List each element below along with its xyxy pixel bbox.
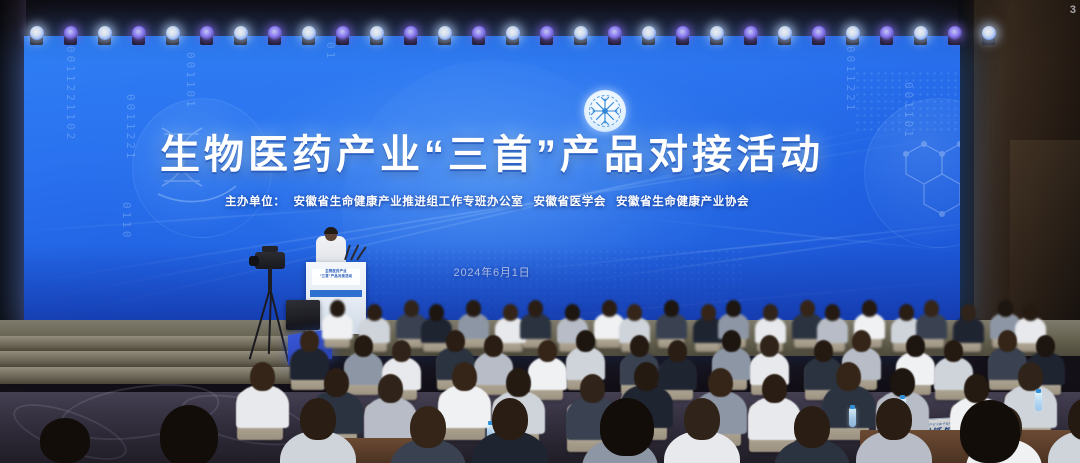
attendee-shoulders: [520, 313, 552, 339]
attendee-head: [726, 300, 741, 317]
attendee-head: [722, 330, 741, 352]
attendee-head: [300, 398, 336, 440]
attendee-head: [538, 340, 557, 362]
attendee-head: [825, 304, 840, 321]
binary-column: 0011221102: [64, 46, 77, 142]
attendee-head: [924, 300, 939, 317]
stage-light-lamp: [778, 26, 792, 40]
attendee-shoulders: [748, 397, 801, 441]
attendee-head: [944, 340, 963, 362]
attendee-head: [961, 304, 976, 321]
binary-column: 0011221: [844, 46, 857, 113]
attendee-head: [668, 340, 687, 362]
event-emblem-icon: [584, 90, 626, 132]
stage-light-lamp: [676, 26, 690, 40]
attendee-head: [506, 368, 531, 397]
attendee-shoulders: [438, 385, 491, 429]
attendee-head: [378, 374, 403, 403]
stage-light-lamp: [132, 26, 146, 40]
attendee-head: [410, 406, 446, 448]
stage-light-lamp: [812, 26, 826, 40]
attendee-head: [899, 304, 914, 321]
attendee-head: [300, 330, 319, 352]
corner-watermark: 3: [1070, 4, 1076, 16]
attendee-shoulders: [916, 313, 948, 339]
stage-light-lamp: [64, 26, 78, 40]
stage-light-lamp: [982, 26, 996, 40]
attendee-head: [998, 300, 1013, 317]
attendee-head: [852, 330, 871, 352]
stage-light-lamp: [30, 26, 44, 40]
attendee-head: [836, 362, 861, 391]
attendee-head: [800, 300, 815, 317]
stage-light-lamp: [200, 26, 214, 40]
attendee-head: [998, 330, 1017, 352]
stage-light-lamp: [302, 26, 316, 40]
binary-column: 01: [324, 42, 337, 61]
attendee-head: [484, 335, 503, 357]
podium-accent-band: [310, 290, 362, 297]
host-line: 主办单位：安徽省生命健康产业推进组工作专班办公室安徽省医学会安徽省生命健康产业协…: [24, 193, 960, 209]
binary-column: 001101: [184, 52, 197, 110]
attendee-head: [466, 300, 481, 317]
stage-speaker-cabinet: [286, 300, 320, 330]
stage-light-lamp: [336, 26, 350, 40]
stage-light-lamp: [98, 26, 112, 40]
stage-light-lamp: [846, 26, 860, 40]
attendee-head: [1036, 335, 1055, 357]
attendee-shoulders: [344, 352, 384, 385]
attendee-head: [354, 335, 373, 357]
attendee-head: [503, 304, 518, 321]
stage-light-lamp: [608, 26, 622, 40]
attendee-head: [964, 374, 989, 403]
stage-light-lamp: [880, 26, 894, 40]
attendee-head: [627, 304, 642, 321]
stage-light-lamp: [268, 26, 282, 40]
attendee-shoulders: [290, 347, 330, 380]
attendee-shoulders: [656, 313, 688, 339]
attendee-head: [664, 300, 679, 317]
stage-light-lamp: [234, 26, 248, 40]
attendee-head: [763, 304, 778, 321]
foreground-attendee-silhouette: [160, 405, 218, 463]
attendee-head: [324, 368, 349, 397]
attendee-head: [890, 368, 915, 397]
attendee-shoulders: [817, 317, 849, 343]
attendee-head: [684, 398, 720, 440]
bottle-cap: [850, 405, 855, 409]
podium-nameplate: 生物医药产业 “三首”产品对接活动: [312, 269, 360, 285]
foreground-attendee-silhouette: [960, 400, 1020, 463]
stage-light-lamp: [574, 26, 588, 40]
attendee-head: [701, 304, 716, 321]
attendee-shoulders: [236, 385, 289, 429]
attendee-head: [762, 374, 787, 403]
presenter-hair: [324, 227, 338, 234]
stage-light-lamp: [370, 26, 384, 40]
water-bottle: [849, 408, 856, 427]
attendee-head: [528, 300, 543, 317]
conference-photo-scene: 0011221102001122100110101100100112210011…: [0, 0, 1080, 463]
bottle-cap: [1036, 389, 1041, 393]
attendee-head: [330, 300, 345, 317]
foreground-attendee-silhouette: [40, 418, 90, 463]
host-org-1: 安徽省生命健康产业推进组工作专班办公室: [293, 196, 523, 208]
attendee-head: [630, 335, 649, 357]
attendee-head: [576, 330, 595, 352]
attendee-head: [634, 362, 659, 391]
foreground-attendee-silhouette: [600, 398, 654, 456]
stage-light-lamp: [166, 26, 180, 40]
headline-block: 生物医药产业“三首”产品对接活动 主办单位：安徽省生命健康产业推进组工作专班办公…: [24, 132, 960, 209]
podium-plate-line-2: “三首”产品对接活动: [312, 274, 360, 279]
attendee-head: [814, 340, 833, 362]
attendee-head: [862, 300, 877, 317]
hall-left-wall: [0, 0, 26, 340]
attendee-head: [760, 335, 779, 357]
hall-right-wall-glow: [1010, 140, 1080, 330]
attendee-head: [1018, 362, 1043, 391]
attendee-shoulders: [953, 317, 985, 343]
attendee-head: [404, 300, 419, 317]
attendee-shoulders: [658, 357, 698, 390]
camera-lens-icon: [249, 256, 259, 266]
attendee-head: [906, 335, 925, 357]
attendee-head: [250, 362, 275, 391]
attendee-head: [876, 398, 912, 440]
stage-light-lamp: [506, 26, 520, 40]
tripod-column: [268, 268, 272, 294]
attendee-head: [367, 304, 382, 321]
bottle-cap: [900, 395, 905, 399]
led-backdrop-screen: 0011221102001122100110101100100112210011…: [24, 36, 960, 334]
host-org-3: 安徽省生命健康产业协会: [616, 196, 749, 208]
video-camera-body: [255, 252, 285, 269]
attendee-head: [794, 406, 830, 448]
stage-light-lamp: [642, 26, 656, 40]
attendee-head: [452, 362, 477, 391]
attendee-head: [580, 374, 605, 403]
attendee-head: [1023, 304, 1038, 321]
attendee-head: [392, 340, 411, 362]
attendee-head: [446, 330, 465, 352]
attendee-head: [565, 304, 580, 321]
stage-light-lamp: [710, 26, 724, 40]
attendee-head: [492, 398, 528, 440]
stage-light-lamp: [404, 26, 418, 40]
attendee-shoulders: [528, 357, 568, 390]
water-bottle: [1035, 392, 1042, 411]
stage-light-lamp: [540, 26, 554, 40]
attendee-head: [429, 304, 444, 321]
stage-light-lamp: [472, 26, 486, 40]
attendee-shoulders: [322, 313, 354, 339]
attendee-head: [602, 300, 617, 317]
event-title: 生物医药产业“三首”产品对接活动: [24, 132, 960, 179]
stage-light-lamp: [948, 26, 962, 40]
stage-light-lamp: [438, 26, 452, 40]
host-org-2: 安徽省医学会: [533, 196, 606, 208]
stage-light-lamp: [744, 26, 758, 40]
attendee-head: [708, 368, 733, 397]
stage-light-lamp: [914, 26, 928, 40]
host-label: 主办单位：: [225, 196, 286, 208]
attendee-shoulders: [364, 397, 417, 441]
